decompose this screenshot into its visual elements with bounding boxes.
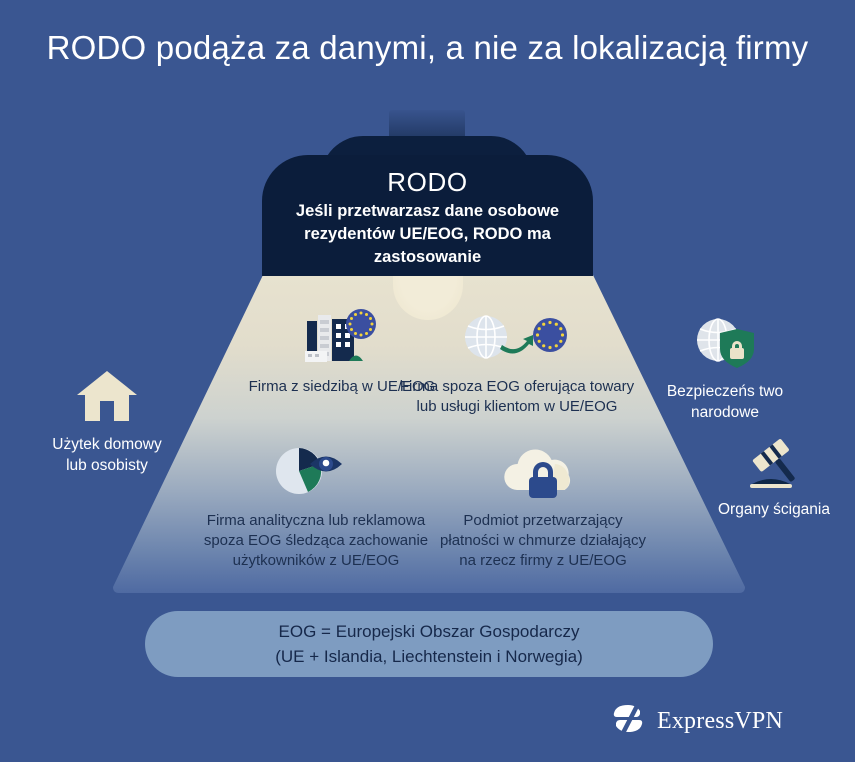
gavel-icon xyxy=(712,430,836,492)
expressvpn-logo-icon xyxy=(610,702,646,741)
cloud-lock-icon xyxy=(432,437,654,505)
beam-item-label: Firma spoza EOG oferująca towary lub usł… xyxy=(393,377,641,417)
eea-definition-line-2: (UE + Islandia, Liechtenstein i Norwegia… xyxy=(275,644,583,669)
page-title: RODO podąża za danymi, a nie za lokaliza… xyxy=(0,26,855,69)
brand-logo: ExpressVPN xyxy=(610,702,783,741)
outside-item-home-use: Użytek domowy lub osobisty xyxy=(44,365,170,476)
globe-shield-lock-icon xyxy=(645,312,805,374)
outside-item-label: Użytek domowy lub osobisty xyxy=(52,436,161,474)
beam-item-cloud-processor: Podmiot przetwarzający płatności w chmur… xyxy=(432,437,654,571)
brand-name: ExpressVPN xyxy=(657,708,783,735)
beam-item-company-outside-eea: Firma spoza EOG oferująca towary lub usł… xyxy=(393,303,641,417)
beam-item-label: Firma analityczna lub reklamowa spoza EO… xyxy=(196,511,436,571)
globe-arrow-eu-flag-icon xyxy=(393,303,641,371)
eea-definition-box: EOG = Europejski Obszar Gospodarczy (UE … xyxy=(145,611,713,677)
eea-definition-line-1: EOG = Europejski Obszar Gospodarczy xyxy=(279,619,580,644)
outside-item-law-enforcement: Organy ścigania xyxy=(712,430,836,520)
beam-item-label: Podmiot przetwarzający płatności w chmur… xyxy=(432,511,654,571)
rodo-subtext: Jeśli przetwarzasz dane osobowe rezydent… xyxy=(262,200,593,269)
outside-item-national-security: Bezpieczeńs two narodowe xyxy=(645,312,805,423)
house-icon xyxy=(44,365,170,427)
outside-item-label: Bezpieczeńs two narodowe xyxy=(667,383,783,421)
lighthouse-lamp-housing: RODO Jeśli przetwarzasz dane osobowe rez… xyxy=(262,155,593,276)
infographic-canvas: RODO podąża za danymi, a nie za lokaliza… xyxy=(0,0,855,762)
outside-item-label: Organy ścigania xyxy=(718,501,830,518)
rodo-heading: RODO xyxy=(262,167,593,198)
beam-item-analytics-company: Firma analityczna lub reklamowa spoza EO… xyxy=(196,437,436,571)
pie-chart-eye-icon xyxy=(196,437,436,505)
